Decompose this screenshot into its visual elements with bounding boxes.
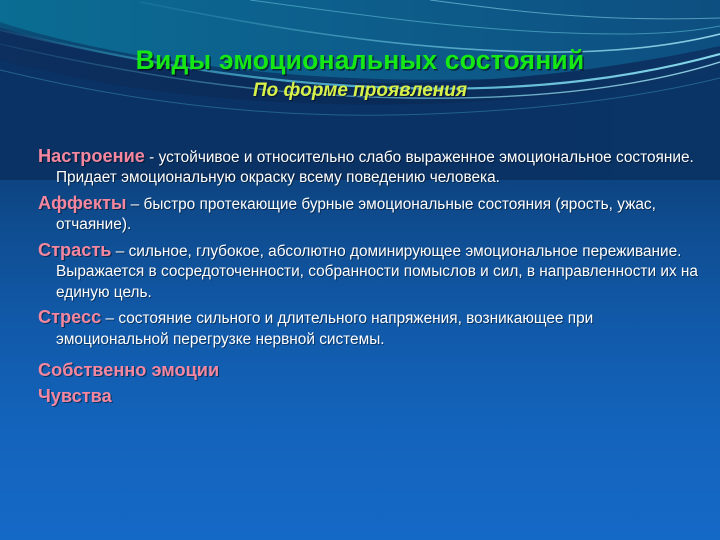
term-description: – быстро протекающие бурные эмоциональны… <box>56 196 656 233</box>
term-label: Аффекты <box>38 193 126 213</box>
page-subtitle: По форме проявления <box>0 81 720 102</box>
page-title: Виды эмоциональных состояний <box>0 46 720 75</box>
term-label: Чувства <box>38 386 112 406</box>
list-item: Чувства <box>38 384 698 408</box>
content-list: Настроение - устойчивое и относительно с… <box>38 144 698 409</box>
term-label: Стресс <box>38 307 101 327</box>
list-item: Собственно эмоции <box>38 358 698 382</box>
term-description: – состояние сильного и длительного напря… <box>56 310 593 347</box>
term-label: Страсть <box>38 240 111 260</box>
list-item: Страсть – сильное, глубокое, абсолютно д… <box>38 238 698 303</box>
term-label: Настроение <box>38 146 145 166</box>
term-description: - устойчивое и относительно слабо выраже… <box>56 149 694 186</box>
list-item: Аффекты – быстро протекающие бурные эмоц… <box>38 191 698 236</box>
term-description: – сильное, глубокое, абсолютно доминирую… <box>56 243 698 301</box>
title-block: Виды эмоциональных состояний По форме пр… <box>0 46 720 102</box>
list-item: Настроение - устойчивое и относительно с… <box>38 144 698 189</box>
term-label: Собственно эмоции <box>38 360 219 380</box>
list-item: Стресс – состояние сильного и длительног… <box>38 305 698 350</box>
presentation-slide: Виды эмоциональных состояний По форме пр… <box>0 0 720 540</box>
